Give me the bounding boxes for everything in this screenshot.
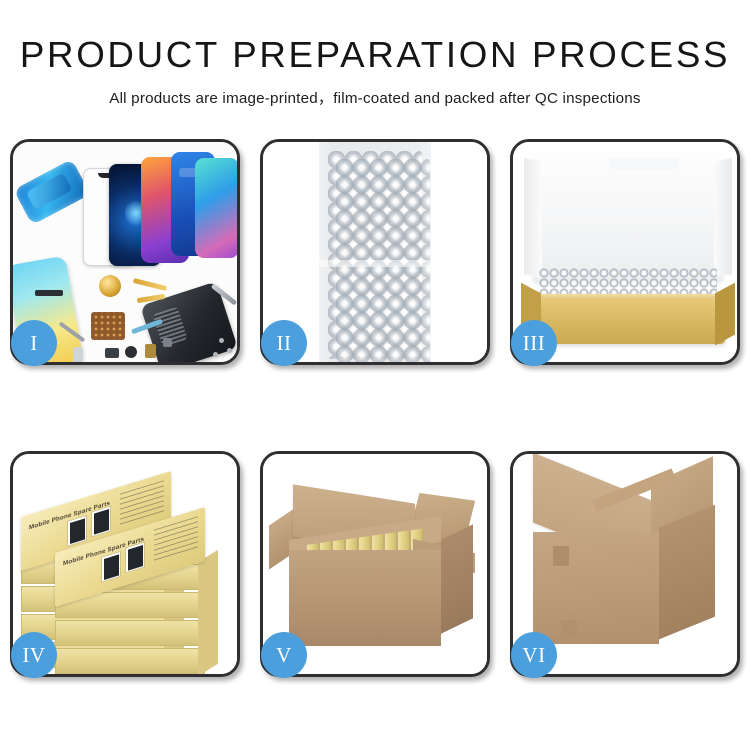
header: PRODUCT PREPARATION PROCESS All products…	[0, 0, 750, 108]
phone-gradient-icon	[195, 158, 237, 258]
box-edge	[55, 648, 205, 674]
step-badge-1: I	[11, 320, 57, 366]
process-step-4: Mobile Phone Spare Parts Mobile Phone Sp…	[10, 451, 240, 677]
process-step-1: I	[10, 139, 240, 365]
small-part-icon	[105, 348, 119, 358]
kraft-tray	[531, 298, 725, 344]
step-badge-3: III	[511, 320, 557, 366]
carton-side	[441, 524, 473, 634]
page-title: PRODUCT PREPARATION PROCESS	[0, 36, 750, 74]
process-step-6: VI	[510, 451, 740, 677]
lid-tab	[609, 158, 679, 170]
step-badge-4: IV	[11, 632, 57, 678]
process-grid: I II III	[0, 139, 750, 677]
box-artwork-thumb	[125, 541, 145, 573]
phone-blue-angled-icon	[13, 159, 90, 225]
box-artwork-thumb	[91, 505, 111, 537]
small-part-icon	[73, 347, 83, 362]
box-lid	[533, 154, 723, 282]
carton-front-face	[533, 532, 659, 644]
page-subtitle: All products are image-printed，film-coat…	[0, 86, 750, 108]
step-badge-2: II	[261, 320, 307, 366]
screw-icon	[213, 352, 218, 357]
camera-module-icon	[99, 275, 121, 297]
flex-cable-icon	[133, 278, 167, 291]
wrap-seam	[319, 260, 431, 267]
screw-icon	[219, 338, 224, 343]
carton-right-face	[659, 505, 715, 640]
process-step-5: V	[260, 451, 490, 677]
tape-tab-upper	[553, 546, 569, 566]
step-badge-6: VI	[511, 632, 557, 678]
box-edge	[55, 620, 205, 646]
process-step-3: III	[510, 139, 740, 365]
tape-tab-lower	[561, 620, 577, 638]
box-artwork-thumb	[67, 515, 87, 547]
process-step-2: II	[260, 139, 490, 365]
small-part-icon	[163, 338, 172, 347]
box-artwork-thumb	[101, 551, 121, 583]
box-spec-lines	[154, 516, 198, 563]
small-part-icon	[125, 346, 137, 358]
small-part-icon	[145, 344, 156, 358]
speaker-bar-icon	[35, 290, 63, 296]
screw-icon	[227, 348, 232, 353]
chip-board-icon	[91, 312, 125, 340]
bubble-wrap-sheet	[319, 142, 431, 362]
carton-front	[289, 550, 441, 646]
infographic-page: PRODUCT PREPARATION PROCESS All products…	[0, 0, 750, 750]
step-badge-5: V	[261, 632, 307, 678]
